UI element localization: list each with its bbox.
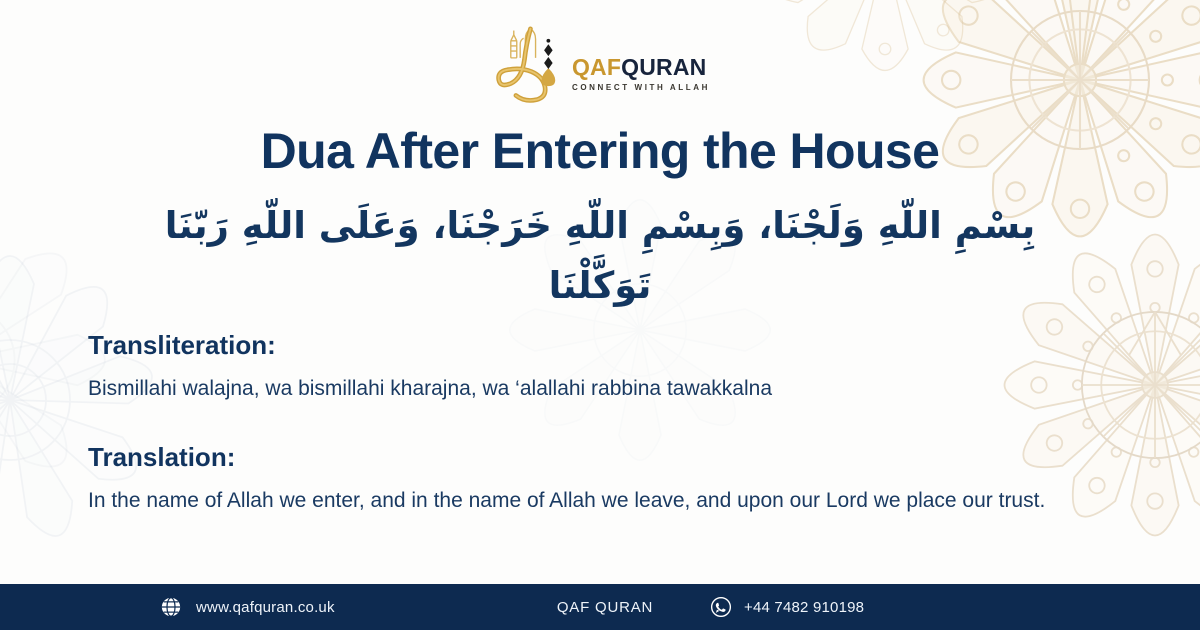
translation-section: Translation: In the name of Allah we ent… — [88, 442, 1118, 518]
translation-text: In the name of Allah we enter, and in th… — [88, 485, 1106, 518]
footer-phone-text: +44 7482 910198 — [744, 599, 864, 616]
transliteration-text: Bismillahi walajna, wa bismillahi kharaj… — [88, 373, 1106, 406]
brand-logo[interactable]: QAFQURAN CONNECT WITH ALLAH — [0, 22, 1200, 104]
logo-wordmark: QAFQURAN — [572, 56, 710, 79]
footer-website-text: www.qafquran.co.uk — [196, 599, 335, 616]
logo-tagline: CONNECT WITH ALLAH — [572, 83, 710, 92]
qaf-calligraphy-mosque-icon — [490, 22, 576, 104]
page-title: Dua After Entering the House — [0, 124, 1200, 178]
dua-card: QAFQURAN CONNECT WITH ALLAH Dua After En… — [0, 0, 1200, 630]
transliteration-label: Transliteration: — [88, 330, 1118, 361]
footer-website[interactable]: www.qafquran.co.uk — [160, 596, 500, 618]
footer-phone[interactable]: +44 7482 910198 — [710, 596, 1050, 618]
whatsapp-icon — [710, 596, 732, 618]
transliteration-section: Transliteration: Bismillahi walajna, wa … — [88, 330, 1118, 406]
footer-bar: www.qafquran.co.uk QAF QURAN +44 7482 91… — [0, 584, 1200, 630]
globe-icon — [160, 596, 182, 618]
logo-word-qaf: QAF — [572, 54, 621, 80]
logo-word-quran: QURAN — [621, 54, 706, 80]
footer-brand-name: QAF QURAN — [500, 599, 710, 616]
arabic-dua-text: بِسْمِ اللّهِ وَلَجْنَا، وَبِسْمِ اللّهِ… — [120, 196, 1080, 316]
translation-label: Translation: — [88, 442, 1118, 473]
